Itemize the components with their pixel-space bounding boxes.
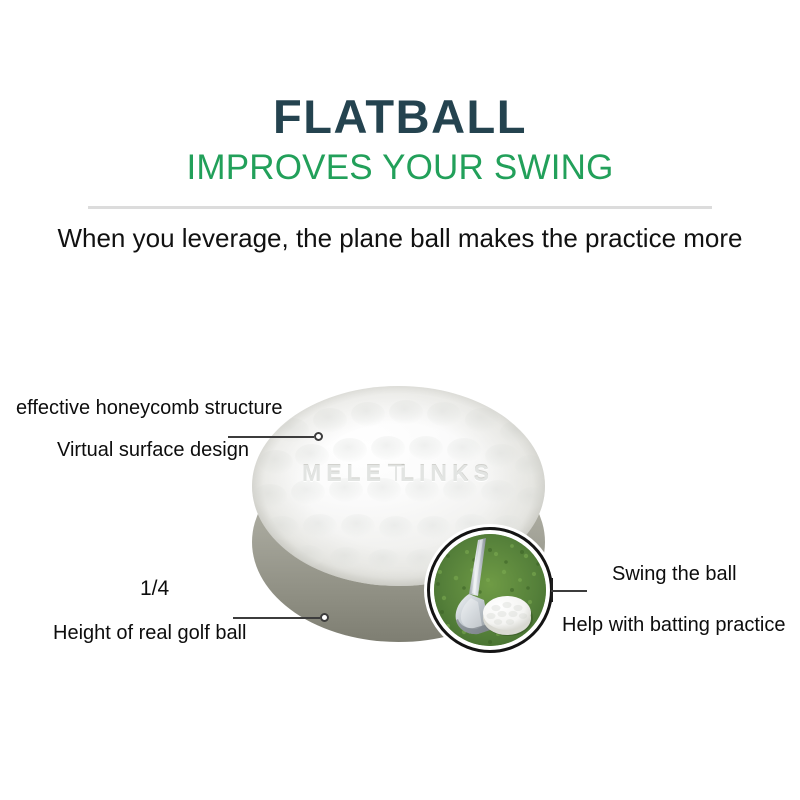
brand-text-right: LINKS [400, 460, 494, 486]
brand-text-left: MELE [302, 460, 386, 486]
leader-dot-virtual [314, 432, 323, 441]
callout-swing-the-ball: Swing the ball [612, 561, 737, 587]
leader-line-swing [551, 590, 587, 592]
page-title: FLATBALL [0, 92, 800, 142]
callout-height-of-real-golf-ball: Height of real golf ball [53, 620, 246, 646]
callout-help-with-batting-practice: Help with batting practice [562, 612, 785, 638]
leader-dot-height [320, 613, 329, 622]
page-subtitle: IMPROVES YOUR SWING [0, 149, 800, 187]
leader-line-height [233, 617, 320, 619]
callout-quarter-fraction: 1/4 [140, 576, 169, 602]
inset-photo-frame [427, 527, 553, 653]
golf-tee-glyph-icon: ⊤ [386, 460, 400, 486]
page-tagline: When you leverage, the plane ball makes … [0, 221, 800, 255]
header-divider [88, 206, 712, 209]
infographic-page: FLATBALL IMPROVES YOUR SWING When you le… [0, 0, 800, 800]
inset-photo-scene [434, 534, 546, 646]
product-brand-emboss: MELE⊤LINKS [250, 460, 546, 486]
callout-honeycomb-structure: effective honeycomb structure [16, 395, 282, 421]
callout-virtual-surface-design: Virtual surface design [57, 437, 249, 463]
